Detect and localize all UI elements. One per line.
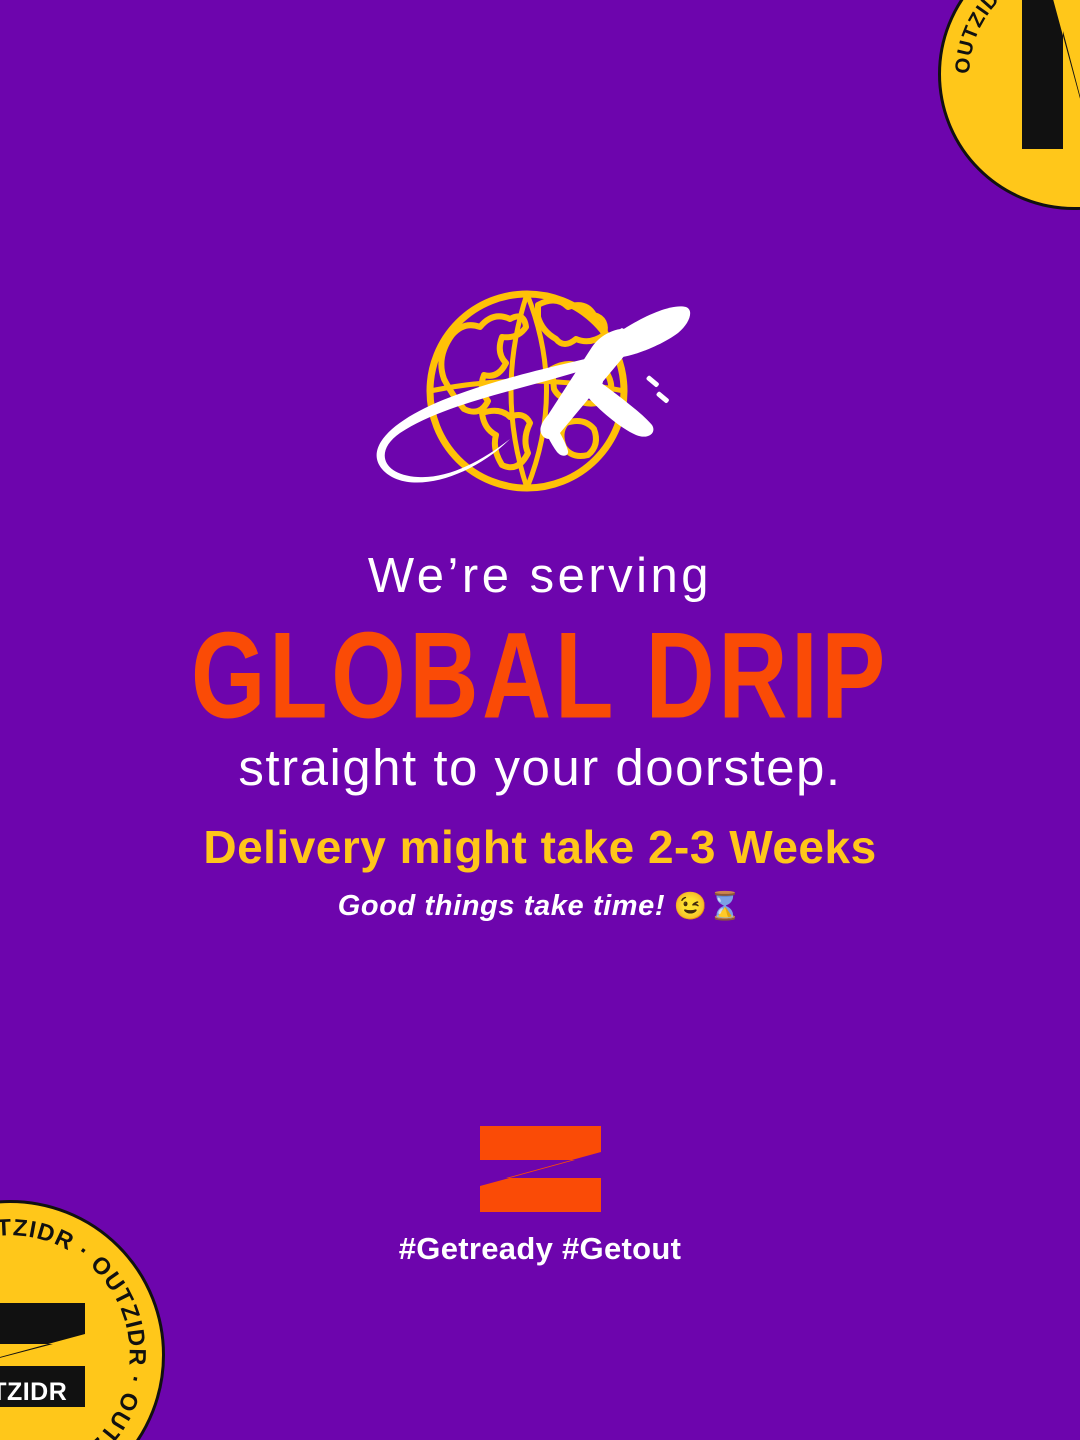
outzidr-z-mark-black-top-right: OUTZIDR — [1022, 0, 1080, 149]
delivery-subtext-wrapper: Good things take time! 😉⌛ — [0, 889, 1080, 924]
outzidr-badge-bottom-left: OUTZIDR · OUTZIDR · OUTZIDR · OUTZIDR · … — [0, 1200, 165, 1440]
headline-line-1: We’re serving — [0, 548, 1080, 604]
headline-line-2-global-drip: GLOBAL DRIP — [43, 610, 1037, 743]
outzidr-z-logo-icon — [480, 1126, 601, 1212]
headline-line-3: straight to your doorstep. — [0, 739, 1080, 798]
footer-hashtags: #Getready #Getout — [0, 1230, 1080, 1267]
globe-airplane-illustration — [360, 283, 712, 505]
badge-center-bottom-left: OUTZIDR — [0, 1303, 85, 1407]
headline-block: We’re serving GLOBAL DRIP straight to yo… — [0, 548, 1080, 797]
delivery-subtext: Good things take time! — [338, 890, 665, 922]
delivery-notice-block: Delivery might take 2-3 Weeks Good thing… — [0, 820, 1080, 924]
badge-center-wordmark-bottom-left: OUTZIDR — [0, 1380, 67, 1405]
outzidr-z-mark-black-bottom-left: OUTZIDR — [0, 1303, 85, 1407]
wink-hourglass-emoji: 😉⌛ — [674, 891, 742, 921]
delivery-headline: Delivery might take 2-3 Weeks — [0, 820, 1080, 875]
badge-center-top-right: OUTZIDR — [1022, 0, 1080, 149]
footer-block: #Getready #Getout — [0, 1126, 1080, 1267]
outzidr-badge-top-right: OUTZIDR · OUTZIDR · OUTZIDR · OUTZIDR · … — [938, 0, 1080, 210]
promo-poster: We’re serving GLOBAL DRIP straight to yo… — [0, 0, 1080, 1440]
